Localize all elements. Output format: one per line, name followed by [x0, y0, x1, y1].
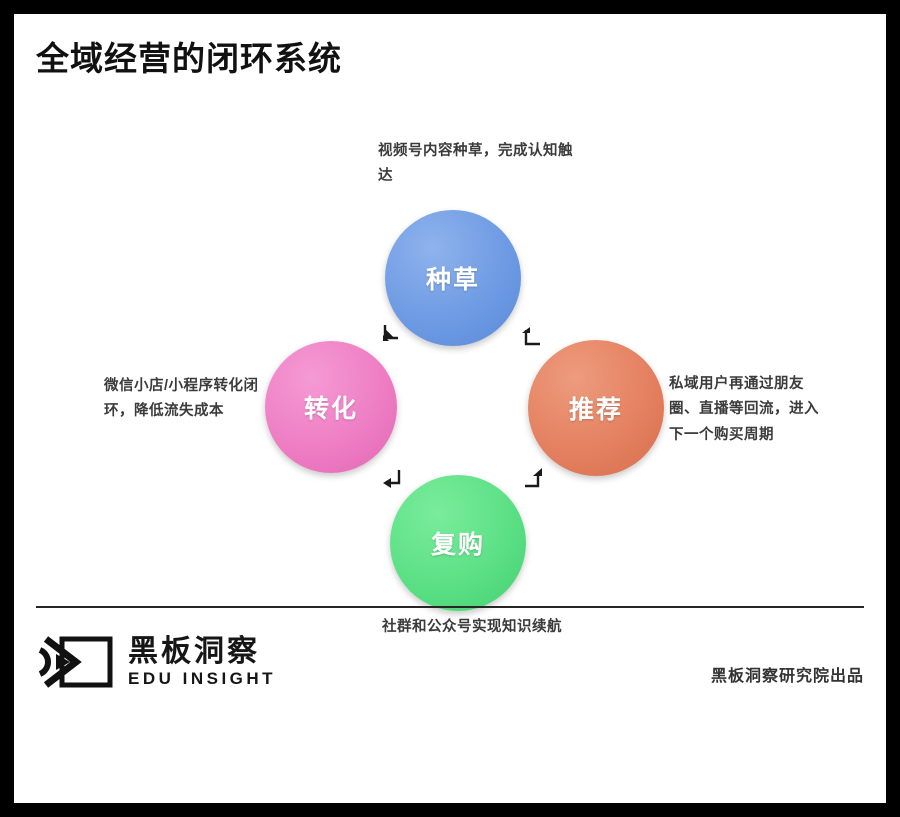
- closed-loop-diagram: 视频号内容种草，完成认知触达 私域用户再通过朋友圈、直播等回流，进入下一个购买周…: [14, 109, 886, 679]
- brand-logo: 黑板洞察 EDU INSIGHT: [36, 634, 276, 690]
- arrow-up-left-icon: [520, 325, 542, 347]
- caption-conversion: 微信小店/小程序转化闭环，降低流失成本: [104, 374, 262, 425]
- page-title: 全域经营的闭环系统: [36, 32, 342, 80]
- caption-recommend: 私域用户再通过朋友圈、直播等回流，进入下一个购买周期: [669, 372, 829, 448]
- footer-divider: [36, 606, 864, 608]
- footer: 黑板洞察 EDU INSIGHT 黑板洞察研究院出品: [14, 622, 886, 732]
- node-recommend-label: 推荐: [569, 390, 623, 426]
- node-recommend[interactable]: 推荐: [528, 340, 664, 476]
- footer-note: 黑板洞察研究院出品: [711, 662, 864, 686]
- arrow-down-left-icon: [380, 323, 402, 345]
- node-repurchase[interactable]: 复购: [390, 475, 526, 611]
- brand-name-en: EDU INSIGHT: [128, 670, 276, 689]
- node-conversion[interactable]: 转化: [265, 341, 397, 473]
- arrow-down-left-icon-2: [381, 467, 403, 489]
- arrow-up-right-icon: [522, 467, 544, 489]
- edu-insight-eye-icon: [36, 634, 114, 690]
- node-seeding[interactable]: 种草: [385, 210, 521, 346]
- node-repurchase-label: 复购: [431, 525, 485, 561]
- node-conversion-label: 转化: [304, 389, 358, 425]
- caption-seeding: 视频号内容种草，完成认知触达: [378, 139, 578, 190]
- brand-name-cn: 黑板洞察: [128, 635, 276, 668]
- brand-text: 黑板洞察 EDU INSIGHT: [128, 635, 276, 689]
- poster-frame: 全域经营的闭环系统 视频号内容种草，完成认知触达 私域用户再通过朋友圈、直播等回…: [0, 0, 900, 817]
- poster-canvas: 全域经营的闭环系统 视频号内容种草，完成认知触达 私域用户再通过朋友圈、直播等回…: [14, 14, 886, 803]
- node-seeding-label: 种草: [426, 260, 480, 296]
